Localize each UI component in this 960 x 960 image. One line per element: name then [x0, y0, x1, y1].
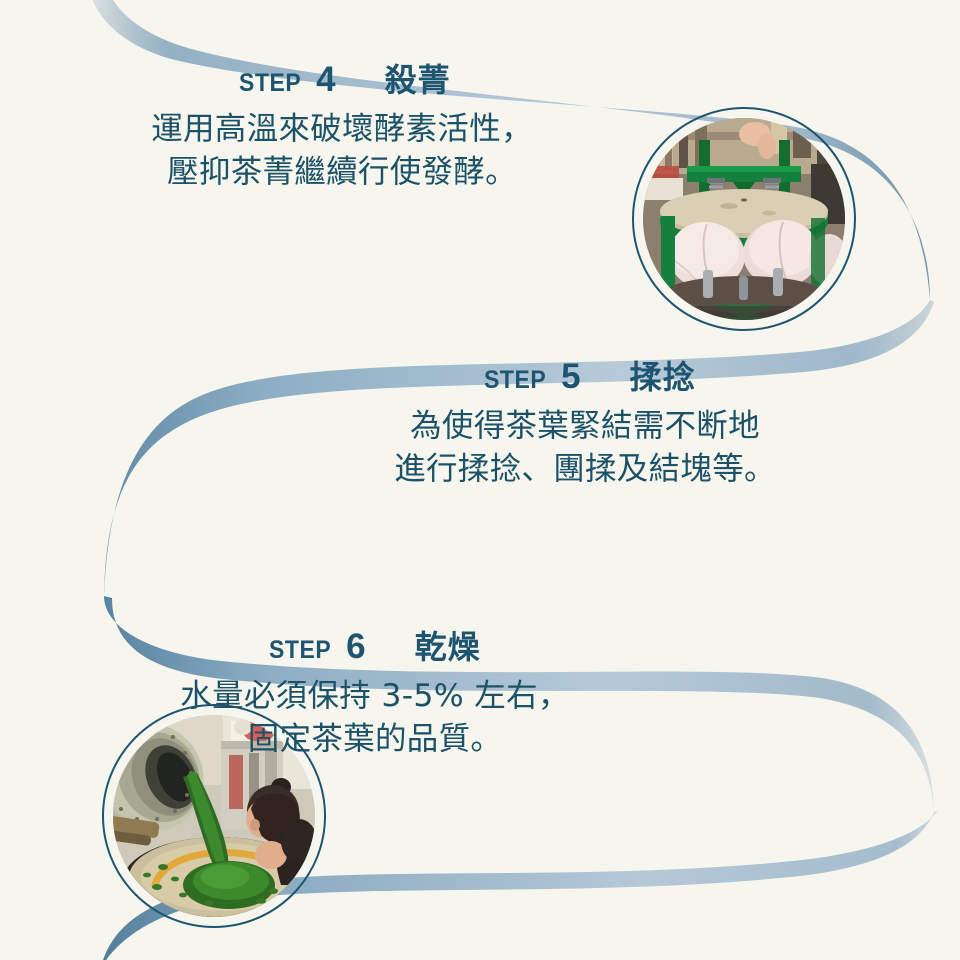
step-block-5: STEP 5 揉捻 為使得茶葉緊結需不断地 進行揉捻、團揉及結塊等。 [0, 352, 960, 582]
step-block-4: STEP 4 殺菁 運用高溫來破壞酵素活性， 壓抑茶菁繼續行使發酵。 [0, 55, 960, 285]
step-4-photo [632, 107, 856, 331]
step-5-title: 揉捻 [630, 352, 696, 398]
step-6-text-column: STEP 6 乾燥 水量必須保持 3-5% 左右， 固定茶葉的品質。 [150, 622, 600, 762]
step-5-text-column: STEP 5 揉捻 為使得茶葉緊結需不断地 進行揉捻、團揉及結塊等。 [330, 352, 840, 492]
step-4-description-line-2: 壓抑茶菁繼續行使發酵。 [82, 151, 602, 194]
step-6-description: 水量必須保持 3-5% 左右， 固定茶葉的品質。 [150, 675, 600, 762]
step-4-description-line-1: 運用高溫來破壞酵素活性， [82, 108, 602, 151]
step-6-step-number: 6 [346, 629, 365, 664]
step-4-title: 殺菁 [385, 55, 451, 101]
step-6-title: 乾燥 [415, 622, 481, 668]
step-5-description-line-1: 為使得茶葉緊結需不断地 [330, 405, 840, 448]
step-4-step-number: 4 [316, 62, 335, 97]
step-5-description: 為使得茶葉緊結需不断地 進行揉捻、團揉及結塊等。 [330, 405, 840, 492]
step-6-heading: STEP 6 乾燥 [150, 622, 600, 668]
step-4-heading: STEP 4 殺菁 [82, 55, 602, 101]
step-block-6: STEP 6 乾燥 水量必須保持 3-5% 左右， 固定茶葉的品質。 [0, 622, 960, 852]
step-4-step-label: STEP [239, 69, 301, 98]
step-4-text-column: STEP 4 殺菁 運用高溫來破壞酵素活性， 壓抑茶菁繼續行使發酵。 [82, 55, 602, 195]
step-5-step-number: 5 [561, 359, 580, 394]
step-5-heading: STEP 5 揉捻 [330, 352, 840, 398]
step-4-photo-ring [632, 107, 856, 331]
step-5-description-line-2: 進行揉捻、團揉及結塊等。 [330, 448, 840, 491]
step-6-description-line-2: 固定茶葉的品質。 [150, 718, 600, 761]
step-4-description: 運用高溫來破壞酵素活性， 壓抑茶菁繼續行使發酵。 [82, 108, 602, 195]
step-5-step-label: STEP [484, 366, 546, 395]
step-6-step-label: STEP [269, 636, 331, 665]
step-6-description-line-1: 水量必須保持 3-5% 左右， [150, 675, 600, 718]
infographic-canvas: STEP 4 殺菁 運用高溫來破壞酵素活性， 壓抑茶菁繼續行使發酵。 [0, 0, 960, 960]
